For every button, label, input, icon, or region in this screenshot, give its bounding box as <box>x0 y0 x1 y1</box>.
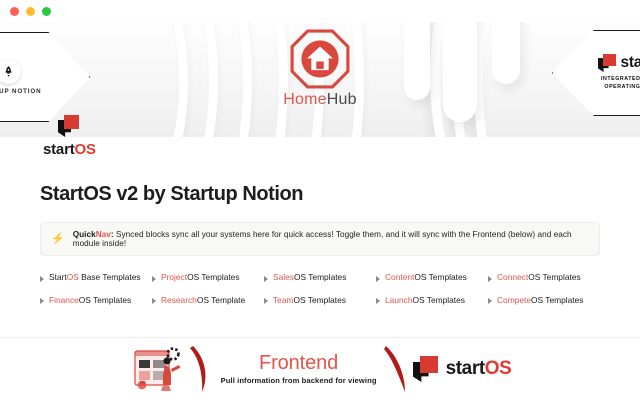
person-dashboard-illustration <box>129 345 189 393</box>
frontend-subtitle: Pull information from backend for viewin… <box>221 376 377 385</box>
startos-wordmark-strip: startOS <box>0 137 640 177</box>
toggle-item[interactable]: TeamOS Templates <box>264 295 368 307</box>
quicknav-columns: StartOS Base Templates FinanceOS Templat… <box>40 272 600 317</box>
chevron-right-icon[interactable] <box>152 276 156 282</box>
homehub-logo: HomeHub <box>0 28 640 109</box>
toggle-item[interactable]: LaunchOS Templates <box>376 295 480 307</box>
lightning-bolt-icon: ⚡ <box>51 234 65 245</box>
window-titlebar <box>0 0 640 22</box>
chevron-right-icon[interactable] <box>40 276 44 282</box>
chevron-right-icon[interactable] <box>376 298 380 304</box>
frontend-footer-banner: Frontend Pull information from backend f… <box>0 337 640 400</box>
red-swoosh-left-icon <box>189 344 215 394</box>
frontend-title: Frontend <box>259 353 338 374</box>
quicknav-column: ConnectOS Templates CompeteOS Templates <box>488 272 600 317</box>
toggle-item-label: ContentOS Templates <box>385 272 467 284</box>
startos-footer-wordmark: startOS <box>446 358 512 380</box>
toggle-item[interactable]: StartOS Base Templates <box>40 272 144 284</box>
toggle-item-label: StartOS Base Templates <box>49 272 141 284</box>
toggle-item-label: CompeteOS Templates <box>497 295 583 307</box>
toggle-item-label: ProjectOS Templates <box>161 272 240 284</box>
toggle-item-label: ConnectOS Templates <box>497 272 581 284</box>
toggle-item-label: SalesOS Templates <box>273 272 346 284</box>
minimize-window-button[interactable] <box>26 7 35 16</box>
chevron-right-icon[interactable] <box>488 298 492 304</box>
toggle-item[interactable]: FinanceOS Templates <box>40 295 144 307</box>
quicknav-column: ContentOS Templates LaunchOS Templates <box>376 272 488 317</box>
toggle-item[interactable]: SalesOS Templates <box>264 272 368 284</box>
toggle-item[interactable]: ProjectOS Templates <box>152 272 256 284</box>
startos-flag-icon <box>413 356 439 382</box>
startos-wordmark: startOS <box>43 141 96 158</box>
quicknav-callout: ⚡ QuickNav: Synced blocks sync all your … <box>40 222 600 256</box>
home-octagon-icon <box>289 28 351 90</box>
frontend-title-block: Frontend Pull information from backend f… <box>221 353 377 385</box>
close-window-button[interactable] <box>10 7 19 16</box>
red-swoosh-right-icon <box>383 344 409 394</box>
chevron-right-icon[interactable] <box>40 298 44 304</box>
quicknav-column: ProjectOS Templates ResearchOS Template <box>152 272 264 317</box>
chevron-right-icon[interactable] <box>264 298 268 304</box>
toggle-item[interactable]: CompeteOS Templates <box>488 295 592 307</box>
quicknav-column: SalesOS Templates TeamOS Templates <box>264 272 376 317</box>
toggle-item-label: FinanceOS Templates <box>49 295 131 307</box>
chevron-right-icon[interactable] <box>264 276 268 282</box>
toggle-item-label: LaunchOS Templates <box>385 295 465 307</box>
page-content: StartOS v2 by Startup Notion ⚡ QuickNav:… <box>0 183 640 317</box>
startos-flag-icon <box>58 115 80 137</box>
homehub-title: HomeHub <box>283 91 356 109</box>
hero-banner: STARTUP NOTION startOS INTEGRATED STARTU… <box>0 22 640 137</box>
page-title: StartOS v2 by Startup Notion <box>40 183 600 206</box>
chevron-right-icon[interactable] <box>488 276 492 282</box>
toggle-item[interactable]: ResearchOS Template <box>152 295 256 307</box>
startos-footer-logo: startOS <box>413 356 512 382</box>
zoom-window-button[interactable] <box>42 7 51 16</box>
quicknav-callout-text: QuickNav: Synced blocks sync all your sy… <box>73 230 589 248</box>
chevron-right-icon[interactable] <box>376 276 380 282</box>
toggle-item-label: ResearchOS Template <box>161 295 245 307</box>
app-window: STARTUP NOTION startOS INTEGRATED STARTU… <box>0 0 640 400</box>
quicknav-column: StartOS Base Templates FinanceOS Templat… <box>40 272 152 317</box>
chevron-right-icon[interactable] <box>152 298 156 304</box>
toggle-item[interactable]: ContentOS Templates <box>376 272 480 284</box>
toggle-item[interactable]: ConnectOS Templates <box>488 272 592 284</box>
toggle-item-label: TeamOS Templates <box>273 295 346 307</box>
